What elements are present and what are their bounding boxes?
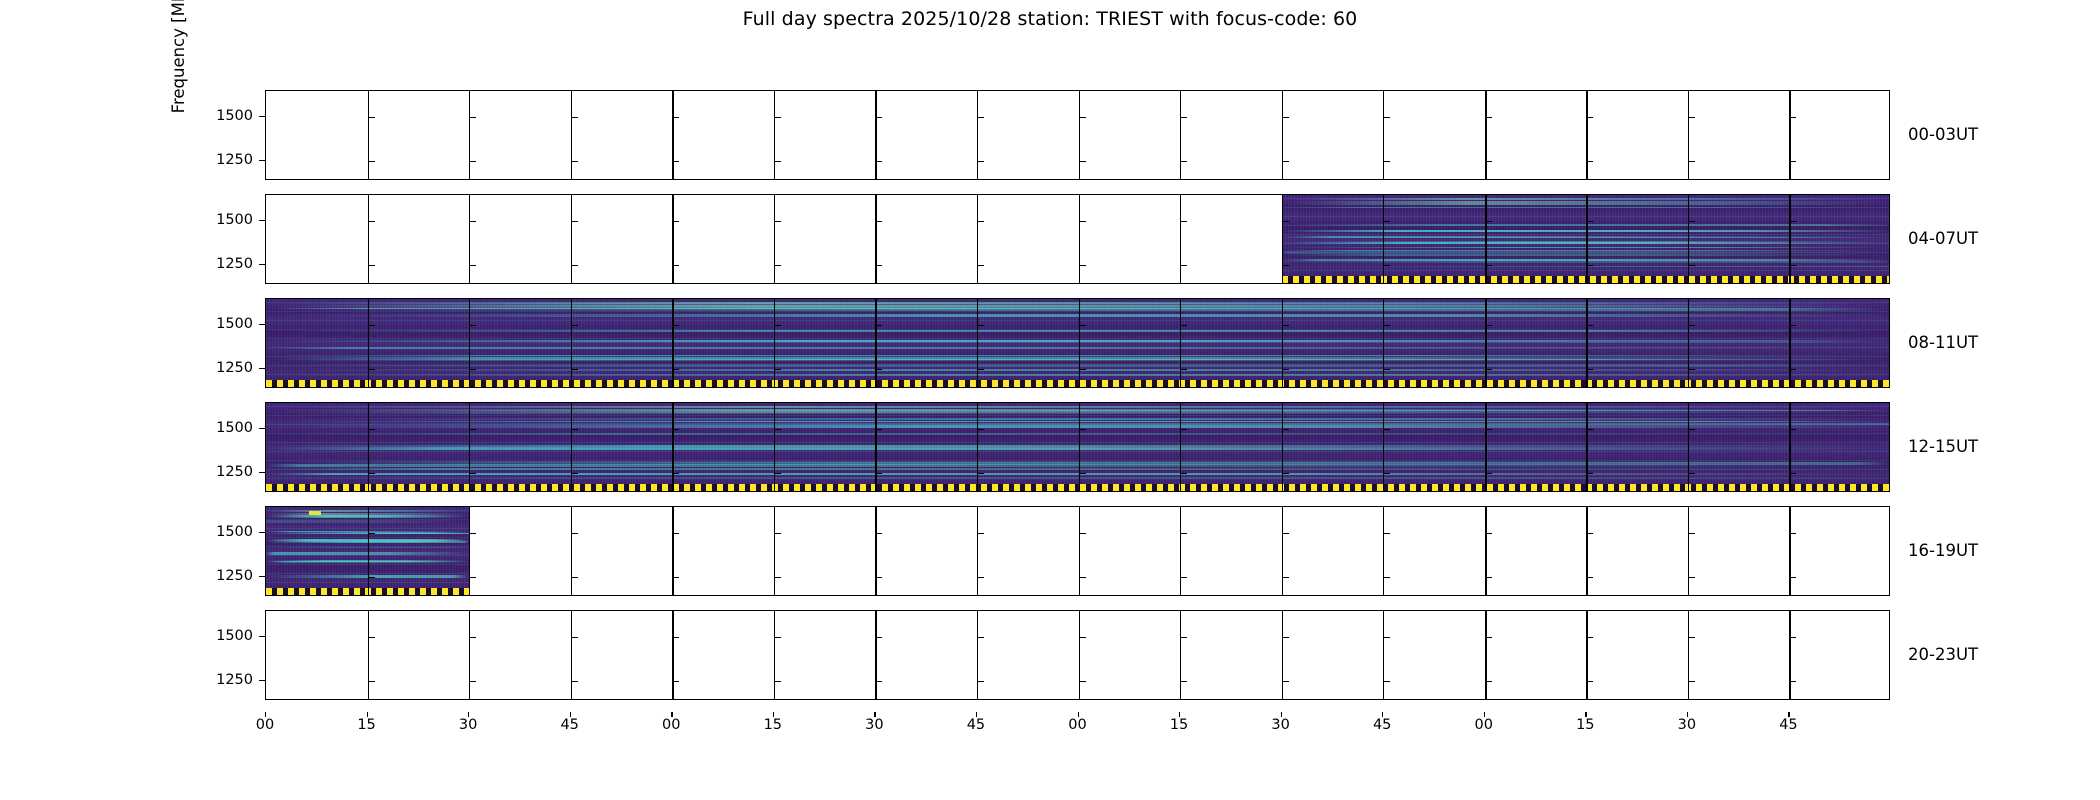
y-tick-mark — [875, 637, 882, 638]
column-separator — [1586, 507, 1587, 595]
column-separator — [1688, 611, 1689, 699]
y-tick-mark — [1789, 637, 1796, 638]
y-tick-mark — [774, 325, 781, 326]
column-separator — [1586, 299, 1587, 387]
column-separator — [977, 195, 978, 283]
y-tick-mark — [875, 117, 882, 118]
y-tick-mark — [977, 369, 984, 370]
y-tick-mark — [469, 325, 476, 326]
y-tick-mark — [571, 265, 578, 266]
spectrogram-row-16-19[interactable] — [265, 506, 1890, 596]
column-separator — [368, 403, 369, 491]
y-tick-mark — [977, 429, 984, 430]
column-separator — [571, 507, 572, 595]
x-tick-label: 15 — [753, 718, 793, 733]
y-tick-label: 1250 — [216, 361, 253, 376]
y-tick-mark — [774, 265, 781, 266]
y-tick-mark — [1586, 533, 1593, 534]
y-tick-mark-outer — [259, 368, 266, 369]
y-tick-mark — [469, 577, 476, 578]
y-tick-mark — [1383, 637, 1390, 638]
y-tick-mark — [1688, 325, 1695, 326]
column-separator — [977, 91, 978, 179]
column-separator — [1485, 91, 1487, 179]
x-tick-label: 15 — [347, 718, 387, 733]
y-tick-mark-outer — [259, 324, 266, 325]
y-tick-mark — [469, 161, 476, 162]
column-separator — [977, 611, 978, 699]
y-tick-mark — [1586, 161, 1593, 162]
column-separator — [774, 403, 775, 491]
y-tick-mark — [1282, 533, 1289, 534]
column-separator — [875, 91, 876, 179]
y-tick-mark — [774, 681, 781, 682]
x-tick-label: 00 — [245, 718, 285, 733]
y-tick-mark — [1383, 117, 1390, 118]
column-separator — [1789, 299, 1790, 387]
y-tick-mark — [1282, 429, 1289, 430]
column-separator — [774, 195, 775, 283]
y-tick-mark — [1789, 473, 1796, 474]
y-tick-mark — [1485, 325, 1492, 326]
column-separator — [1282, 91, 1283, 179]
y-tick-mark — [1180, 161, 1187, 162]
y-tick-mark — [469, 681, 476, 682]
column-separator — [1282, 403, 1283, 491]
y-tick-mark — [875, 161, 882, 162]
column-separator — [469, 91, 470, 179]
y-tick-mark — [1485, 265, 1492, 266]
y-tick-mark — [1485, 533, 1492, 534]
y-tick-mark — [469, 473, 476, 474]
x-tick-label: 15 — [1565, 718, 1605, 733]
column-separator — [1079, 195, 1081, 283]
y-tick-mark — [1180, 265, 1187, 266]
y-tick-mark — [672, 265, 679, 266]
y-tick-mark — [1079, 473, 1086, 474]
column-separator — [1485, 507, 1487, 595]
y-tick-mark — [1789, 117, 1796, 118]
y-tick-mark — [1688, 265, 1695, 266]
column-separator — [1383, 507, 1384, 595]
column-separator — [1079, 403, 1081, 491]
page-title: Full day spectra 2025/10/28 station: TRI… — [0, 8, 2100, 30]
y-tick-mark — [1180, 117, 1187, 118]
y-tick-mark — [672, 117, 679, 118]
y-tick-label: 1250 — [216, 257, 253, 272]
column-separator — [1180, 403, 1181, 491]
x-tick-label: 45 — [1362, 718, 1402, 733]
y-tick-mark — [368, 637, 375, 638]
y-tick-mark — [469, 637, 476, 638]
x-tick-label: 45 — [956, 718, 996, 733]
column-separator — [1688, 195, 1689, 283]
y-tick-mark — [1383, 533, 1390, 534]
y-tick-mark — [1079, 369, 1086, 370]
y-tick-mark — [1383, 473, 1390, 474]
y-tick-mark — [469, 265, 476, 266]
saturated-burst — [309, 511, 321, 515]
y-tick-mark — [977, 325, 984, 326]
column-separator — [672, 195, 674, 283]
y-tick-mark — [1180, 429, 1187, 430]
column-separator — [1586, 611, 1587, 699]
y-tick-mark — [875, 369, 882, 370]
column-separator — [1485, 299, 1487, 387]
y-tick-mark — [571, 369, 578, 370]
y-tick-mark — [1079, 265, 1086, 266]
column-separator — [1079, 611, 1081, 699]
spectrogram-row-00-03[interactable] — [265, 90, 1890, 180]
y-tick-label: 1500 — [216, 421, 253, 436]
y-tick-mark — [368, 577, 375, 578]
y-tick-mark — [774, 429, 781, 430]
y-tick-mark — [1180, 533, 1187, 534]
column-separator — [875, 611, 876, 699]
column-separator — [1079, 299, 1081, 387]
spectrogram-row-20-23[interactable] — [265, 610, 1890, 700]
y-tick-label: 1500 — [216, 317, 253, 332]
y-tick-mark — [1079, 637, 1086, 638]
y-tick-mark — [1688, 637, 1695, 638]
x-tick-label: 15 — [1159, 718, 1199, 733]
column-separator — [469, 299, 470, 387]
y-tick-mark — [571, 221, 578, 222]
row-label-16-19: 16-19UT — [1908, 543, 1978, 560]
y-tick-mark — [977, 681, 984, 682]
y-tick-mark — [1485, 473, 1492, 474]
y-tick-mark-outer — [259, 636, 266, 637]
x-tick-label: 45 — [1768, 718, 1808, 733]
row-label-20-23: 20-23UT — [1908, 647, 1978, 664]
y-tick-mark — [571, 681, 578, 682]
column-separator — [368, 195, 369, 283]
x-tick-label: 00 — [1058, 718, 1098, 733]
y-tick-mark — [672, 577, 679, 578]
y-tick-mark — [1282, 221, 1289, 222]
column-separator — [672, 611, 674, 699]
y-tick-mark — [1079, 117, 1086, 118]
x-tick-label: 30 — [1261, 718, 1301, 733]
column-separator — [1688, 299, 1689, 387]
column-separator — [672, 403, 674, 491]
y-tick-mark — [1586, 369, 1593, 370]
y-tick-mark — [469, 369, 476, 370]
y-tick-mark — [1688, 473, 1695, 474]
y-tick-mark — [1383, 577, 1390, 578]
y-tick-mark — [1282, 637, 1289, 638]
y-tick-mark — [774, 533, 781, 534]
y-tick-mark — [875, 265, 882, 266]
y-tick-mark — [1485, 577, 1492, 578]
column-separator — [1688, 91, 1689, 179]
y-tick-mark — [1688, 221, 1695, 222]
y-tick-mark — [977, 161, 984, 162]
spectrogram-row-08-11[interactable] — [265, 298, 1890, 388]
y-tick-mark-outer — [259, 220, 266, 221]
y-tick-mark — [1383, 325, 1390, 326]
y-tick-mark — [1383, 429, 1390, 430]
y-tick-mark — [1485, 637, 1492, 638]
column-separator — [469, 195, 470, 283]
column-separator — [1586, 91, 1587, 179]
y-tick-mark — [672, 637, 679, 638]
column-separator — [672, 299, 674, 387]
y-tick-mark — [1282, 117, 1289, 118]
y-tick-mark — [875, 325, 882, 326]
column-separator — [977, 403, 978, 491]
y-tick-mark — [672, 533, 679, 534]
column-separator — [1485, 403, 1487, 491]
y-tick-mark — [571, 473, 578, 474]
y-tick-mark — [571, 117, 578, 118]
y-tick-mark — [1180, 681, 1187, 682]
y-tick-label: 1250 — [216, 673, 253, 688]
y-tick-mark — [368, 429, 375, 430]
y-tick-mark — [774, 117, 781, 118]
column-separator — [774, 91, 775, 179]
y-tick-mark — [977, 265, 984, 266]
y-tick-label: 1250 — [216, 569, 253, 584]
y-tick-mark — [368, 265, 375, 266]
y-tick-mark — [977, 117, 984, 118]
y-tick-mark — [1586, 429, 1593, 430]
y-tick-mark — [1079, 577, 1086, 578]
column-separator — [1789, 611, 1790, 699]
column-separator — [368, 507, 369, 595]
column-separator — [469, 507, 470, 595]
column-separator — [469, 611, 470, 699]
y-tick-mark — [1180, 473, 1187, 474]
y-tick-mark — [571, 325, 578, 326]
x-tick-label: 30 — [448, 718, 488, 733]
y-tick-mark — [1688, 533, 1695, 534]
column-separator — [1383, 299, 1384, 387]
column-separator — [1383, 91, 1384, 179]
column-separator — [1586, 195, 1587, 283]
column-separator — [1079, 91, 1081, 179]
y-tick-mark — [571, 533, 578, 534]
y-tick-mark — [1079, 161, 1086, 162]
column-separator — [977, 299, 978, 387]
column-separator — [1383, 195, 1384, 283]
y-tick-mark — [1180, 221, 1187, 222]
y-tick-mark — [977, 221, 984, 222]
column-separator — [571, 299, 572, 387]
y-tick-mark-outer — [259, 264, 266, 265]
y-tick-mark — [1485, 369, 1492, 370]
column-separator — [1180, 91, 1181, 179]
column-separator — [1282, 507, 1283, 595]
y-tick-mark — [1485, 161, 1492, 162]
column-separator — [1789, 403, 1790, 491]
y-tick-mark — [875, 533, 882, 534]
column-separator — [1383, 403, 1384, 491]
column-separator — [368, 299, 369, 387]
column-separator — [571, 195, 572, 283]
column-separator — [875, 403, 876, 491]
column-separator — [1789, 91, 1790, 179]
column-separator — [1079, 507, 1081, 595]
y-tick-mark-outer — [259, 160, 266, 161]
y-tick-mark — [1688, 369, 1695, 370]
y-tick-mark — [875, 473, 882, 474]
column-separator — [1789, 195, 1790, 283]
y-tick-mark — [1383, 221, 1390, 222]
y-tick-mark — [977, 533, 984, 534]
y-tick-mark — [368, 325, 375, 326]
y-tick-mark — [1079, 325, 1086, 326]
y-tick-mark — [368, 117, 375, 118]
y-tick-mark — [1079, 533, 1086, 534]
y-tick-mark — [368, 681, 375, 682]
row-label-00-03: 00-03UT — [1908, 127, 1978, 144]
y-tick-mark — [1789, 577, 1796, 578]
x-tick-label: 30 — [1667, 718, 1707, 733]
x-tick-label: 30 — [854, 718, 894, 733]
y-tick-mark-outer — [259, 576, 266, 577]
y-tick-mark — [469, 429, 476, 430]
column-separator — [571, 611, 572, 699]
y-axis-label: Frequency [MHz] — [169, 0, 188, 224]
spectrogram-row-12-15[interactable] — [265, 402, 1890, 492]
column-separator — [1383, 611, 1384, 699]
y-tick-mark — [774, 161, 781, 162]
column-separator — [875, 299, 876, 387]
column-separator — [672, 91, 674, 179]
y-tick-mark — [977, 473, 984, 474]
y-tick-mark — [469, 117, 476, 118]
y-tick-label: 1250 — [216, 153, 253, 168]
y-tick-mark — [1789, 681, 1796, 682]
y-tick-mark — [672, 369, 679, 370]
y-tick-mark — [1383, 265, 1390, 266]
y-tick-label: 1500 — [216, 213, 253, 228]
y-tick-label: 1500 — [216, 525, 253, 540]
y-tick-mark — [1282, 577, 1289, 578]
y-tick-mark — [571, 429, 578, 430]
x-tick-label: 00 — [1464, 718, 1504, 733]
column-separator — [774, 507, 775, 595]
y-tick-mark — [1789, 161, 1796, 162]
y-tick-mark — [1282, 325, 1289, 326]
column-separator — [1180, 507, 1181, 595]
y-tick-label: 1500 — [216, 629, 253, 644]
y-tick-mark — [1789, 533, 1796, 534]
column-separator — [875, 507, 876, 595]
column-separator — [571, 91, 572, 179]
y-tick-mark — [1586, 637, 1593, 638]
y-tick-mark — [1789, 429, 1796, 430]
y-tick-mark — [977, 637, 984, 638]
y-tick-mark — [1485, 681, 1492, 682]
column-separator — [368, 611, 369, 699]
column-separator — [1180, 299, 1181, 387]
y-tick-mark — [1688, 161, 1695, 162]
y-tick-mark — [1079, 429, 1086, 430]
y-tick-mark — [368, 161, 375, 162]
y-tick-mark — [1688, 429, 1695, 430]
y-tick-mark-outer — [259, 428, 266, 429]
row-label-08-11: 08-11UT — [1908, 335, 1978, 352]
y-tick-mark — [1383, 161, 1390, 162]
y-tick-mark — [368, 369, 375, 370]
y-tick-mark — [1586, 117, 1593, 118]
y-tick-mark — [774, 221, 781, 222]
y-tick-mark — [1586, 265, 1593, 266]
y-tick-mark — [672, 221, 679, 222]
y-tick-mark — [1586, 221, 1593, 222]
column-separator — [469, 403, 470, 491]
y-tick-mark — [368, 473, 375, 474]
y-tick-mark — [875, 681, 882, 682]
y-tick-mark — [875, 577, 882, 578]
y-tick-mark — [1282, 369, 1289, 370]
y-tick-mark — [571, 161, 578, 162]
y-tick-mark — [571, 577, 578, 578]
y-tick-mark — [1282, 161, 1289, 162]
y-tick-mark — [774, 473, 781, 474]
y-tick-mark — [774, 577, 781, 578]
column-separator — [1282, 195, 1283, 283]
y-tick-mark — [977, 577, 984, 578]
y-tick-mark-outer — [259, 116, 266, 117]
y-tick-mark — [1282, 265, 1289, 266]
column-separator — [1282, 299, 1283, 387]
column-separator — [774, 299, 775, 387]
y-tick-mark — [1485, 429, 1492, 430]
y-tick-mark — [1383, 681, 1390, 682]
row-label-12-15: 12-15UT — [1908, 439, 1978, 456]
spectrogram-row-04-07[interactable] — [265, 194, 1890, 284]
y-tick-mark — [1688, 117, 1695, 118]
y-tick-mark — [672, 325, 679, 326]
y-tick-mark — [672, 161, 679, 162]
spectrogram-grid — [265, 90, 1890, 712]
y-tick-mark — [672, 429, 679, 430]
column-separator — [1282, 611, 1283, 699]
y-tick-mark — [774, 369, 781, 370]
y-tick-mark — [469, 533, 476, 534]
column-separator — [672, 507, 674, 595]
y-tick-mark — [571, 637, 578, 638]
y-tick-label: 1500 — [216, 109, 253, 124]
column-separator — [875, 195, 876, 283]
y-tick-mark — [1586, 473, 1593, 474]
y-tick-mark-outer — [259, 472, 266, 473]
y-tick-mark — [875, 221, 882, 222]
y-tick-mark — [1180, 369, 1187, 370]
y-tick-mark — [1688, 577, 1695, 578]
y-tick-mark — [1282, 681, 1289, 682]
y-tick-mark — [368, 533, 375, 534]
column-separator — [977, 507, 978, 595]
y-tick-mark — [469, 221, 476, 222]
y-tick-mark — [774, 637, 781, 638]
column-separator — [774, 611, 775, 699]
y-tick-mark — [1586, 325, 1593, 326]
column-separator — [1586, 403, 1587, 491]
column-separator — [1180, 611, 1181, 699]
y-tick-mark — [1383, 369, 1390, 370]
x-tick-label: 45 — [550, 718, 590, 733]
y-tick-label: 1250 — [216, 465, 253, 480]
y-tick-mark — [1079, 681, 1086, 682]
y-tick-mark — [672, 681, 679, 682]
y-tick-mark — [1688, 681, 1695, 682]
y-tick-mark — [1789, 221, 1796, 222]
y-tick-mark — [1586, 577, 1593, 578]
